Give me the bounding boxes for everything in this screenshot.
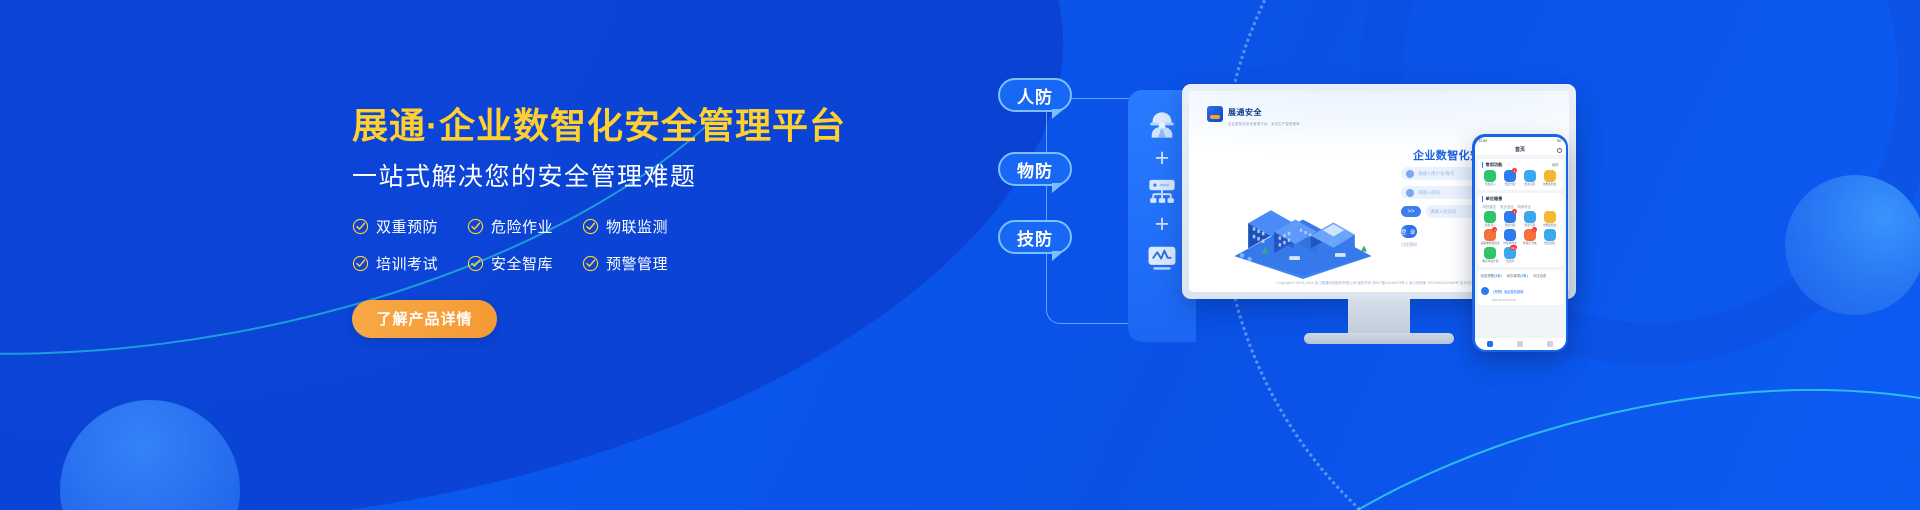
feature-item: 预警管理 (582, 253, 697, 274)
username-placeholder: 请输入用户名/账号 (1418, 171, 1454, 177)
notification-badge: 6 (1512, 168, 1517, 173)
app-item[interactable]: 隐患录入 (1481, 211, 1501, 227)
app-item[interactable]: 待复查隐患 (1500, 229, 1520, 245)
device-illustration: + + 人防 物防 技防 (1010, 72, 1870, 492)
section-header: 常用功能 编辑 (1480, 162, 1561, 170)
app-label: 整改不合格 (1523, 242, 1536, 245)
lock-icon (1406, 189, 1414, 197)
check-circle-icon (467, 255, 484, 272)
monitor-neck (1348, 299, 1410, 333)
tab-item[interactable]: 安全会议 (1500, 204, 1514, 209)
app-label: 超期未整改隐患 (1481, 242, 1500, 245)
list-item[interactable]: 【预警】隐患整改超期 2024-05-28 11:43:08 (1481, 280, 1560, 302)
brand-name: 展通安全 (1228, 108, 1262, 117)
plus-icon: + (1155, 214, 1170, 234)
app-icon (1484, 170, 1496, 182)
remember-password-checkbox[interactable]: 记住密码 (1401, 242, 1417, 248)
phone-navbar: 首页 (1475, 145, 1566, 156)
app-label: 任务库 (1506, 260, 1514, 263)
tag-jifang[interactable]: 技防 (998, 220, 1072, 254)
app-label: 制定年度计划 (1482, 260, 1498, 263)
list-item-title: 【预警】隐患整改超期 (1492, 290, 1524, 294)
check-circle-icon (352, 255, 369, 272)
phone-tabbar (1475, 337, 1566, 350)
tabbar-profile-icon[interactable] (1547, 341, 1553, 347)
app-label: 隐患分配 (1505, 224, 1516, 227)
app-icon (1524, 170, 1536, 182)
app-item[interactable]: 制定年度计划 (1481, 247, 1501, 263)
page-title: 展通·企业数智化安全管理平台 (352, 104, 872, 148)
feature-label: 安全智库 (491, 253, 553, 274)
hero-copy: 展通·企业数智化安全管理平台 一站式解决您的安全管理难题 双重预防 危险作业 (352, 104, 872, 338)
app-item[interactable]: 3 超期未整改隐患 (1481, 229, 1501, 245)
section-title: 常用功能 (1482, 162, 1503, 168)
plus-icon: + (1155, 148, 1170, 168)
check-circle-icon (582, 218, 599, 235)
app-icon (1544, 170, 1556, 182)
tabbar-home-icon[interactable] (1487, 341, 1493, 347)
check-circle-icon (582, 255, 599, 272)
phone-section-common: 常用功能 编辑 隐患录入 6 隐患分配 (1478, 159, 1563, 190)
page-subtitle: 一站式解决您的安全管理难题 (352, 162, 872, 192)
app-label: 隐患分配 (1505, 183, 1516, 186)
captcha-placeholder: 请输入验证码 (1430, 209, 1456, 215)
app-item[interactable]: 隐患记录 (1520, 211, 1540, 227)
phone-activity-list: 动态预警(3条) 待办事项(3条) 今日动态 【预警】隐患整改超期 2024-0… (1478, 270, 1563, 305)
monitoring-chart-icon (1143, 238, 1181, 276)
activity-tab-alerts[interactable]: 动态预警(3条) (1481, 273, 1502, 278)
app-item[interactable]: 隐患记录 (1520, 170, 1540, 186)
notification-badge: 3 (1492, 227, 1497, 232)
notification-badge: 2 (1532, 227, 1537, 232)
screen-logo: 展通安全 企业数智化安全管理平台 · 安全生产智慧管家 (1207, 102, 1300, 126)
isometric-city-illustration (1219, 183, 1387, 279)
feature-item: 培训考试 (352, 253, 467, 274)
app-icon (1484, 211, 1496, 223)
app-item[interactable]: 99+ 任务库 (1500, 247, 1520, 263)
tag-renfang[interactable]: 人防 (998, 78, 1072, 112)
notification-badge: 6 (1512, 209, 1517, 214)
learn-more-button[interactable]: 了解产品详情 (352, 300, 497, 338)
app-item[interactable]: 隐患台账 (1540, 229, 1560, 245)
app-icon (1524, 211, 1536, 223)
app-grid: 隐患录入 6 隐患分配 隐患记录 待整改隐 (1480, 211, 1561, 263)
brand-tagline: 企业数智化安全管理平台 · 安全生产智慧管家 (1228, 121, 1300, 126)
app-grid: 隐患录入 6 隐患分配 隐患记录 待整改隐 (1480, 170, 1561, 186)
app-item[interactable]: 2 整改不合格 (1520, 229, 1540, 245)
tab-item[interactable]: 特殊作业 (1518, 204, 1532, 209)
activity-tab-today[interactable]: 今日动态 (1533, 273, 1547, 278)
check-circle-icon (352, 218, 369, 235)
monitor-base (1304, 333, 1454, 344)
feature-label: 培训考试 (376, 253, 438, 274)
gear-icon[interactable] (1557, 148, 1562, 153)
brand-mark-icon (1207, 106, 1223, 122)
app-label: 隐患记录 (1525, 183, 1536, 186)
list-item-time: 2024-05-28 11:43:08 (1492, 299, 1524, 302)
activity-list-header: 动态预警(3条) 待办事项(3条) 今日动态 (1481, 273, 1560, 278)
feature-item: 物联监测 (582, 216, 697, 237)
feature-item: 安全智库 (467, 253, 582, 274)
app-icon (1544, 211, 1556, 223)
app-item[interactable]: 6 隐患分配 (1500, 211, 1520, 227)
section-header: 单位隐患 (1480, 196, 1561, 204)
alert-icon (1481, 287, 1489, 295)
network-server-icon (1143, 172, 1181, 210)
login-submit-button[interactable]: 登 录 (1401, 225, 1417, 238)
feature-label: 危险作业 (491, 216, 553, 237)
password-placeholder: 请输入密码 (1418, 190, 1440, 196)
phone-screen: 12:50 5G 首页 常用功能 编辑 隐患录入 (1475, 137, 1566, 350)
feature-item: 双重预防 (352, 216, 467, 237)
app-label: 隐患录入 (1485, 183, 1496, 186)
mobile-phone-mockup: 12:50 5G 首页 常用功能 编辑 隐患录入 (1472, 134, 1568, 352)
notification-badge: 99+ (1510, 245, 1517, 250)
phone-section-hazard: 单位隐患 风险管控 安全会议 特殊作业 隐患录入 (1478, 193, 1563, 267)
activity-tab-todo[interactable]: 待办事项(3条) (1507, 273, 1528, 278)
app-item[interactable]: 待整改隐患 (1540, 170, 1560, 186)
app-item[interactable]: 6 隐患分配 (1500, 170, 1520, 186)
hero-banner: 展通·企业数智化安全管理平台 一站式解决您的安全管理难题 双重预防 危险作业 (0, 0, 1920, 510)
section-title: 单位隐患 (1482, 196, 1503, 202)
feature-label: 双重预防 (376, 216, 438, 237)
phone-navbar-title: 首页 (1515, 146, 1525, 153)
feature-label: 预警管理 (606, 253, 668, 274)
captcha-slider-icon[interactable]: >> (1401, 206, 1421, 217)
app-label: 隐患台账 (1544, 242, 1555, 245)
app-item[interactable]: 待整改隐患 (1540, 211, 1560, 227)
phone-status-bar: 12:50 5G (1475, 137, 1566, 145)
check-circle-icon (467, 218, 484, 235)
section-edit-button[interactable]: 编辑 (1552, 162, 1559, 167)
tabbar-apps-icon[interactable] (1517, 341, 1523, 347)
app-item[interactable]: 隐患录入 (1481, 170, 1501, 186)
feature-label: 物联监测 (606, 216, 668, 237)
status-time: 12:50 (1479, 139, 1488, 143)
status-signal: 5G (1557, 139, 1562, 143)
app-label: 待整改隐患 (1543, 224, 1556, 227)
section-tabs: 风险管控 安全会议 特殊作业 (1480, 204, 1561, 211)
app-icon (1504, 229, 1516, 241)
tag-wufang[interactable]: 物防 (998, 152, 1072, 186)
app-label: 待整改隐患 (1543, 183, 1556, 186)
app-icon (1484, 247, 1496, 259)
tab-item[interactable]: 风险管控 (1483, 204, 1497, 209)
feature-list: 双重预防 危险作业 物联监测 (352, 216, 872, 274)
user-icon (1406, 170, 1414, 178)
feature-item: 危险作业 (467, 216, 582, 237)
app-icon (1544, 229, 1556, 241)
worker-helmet-icon (1143, 106, 1181, 144)
